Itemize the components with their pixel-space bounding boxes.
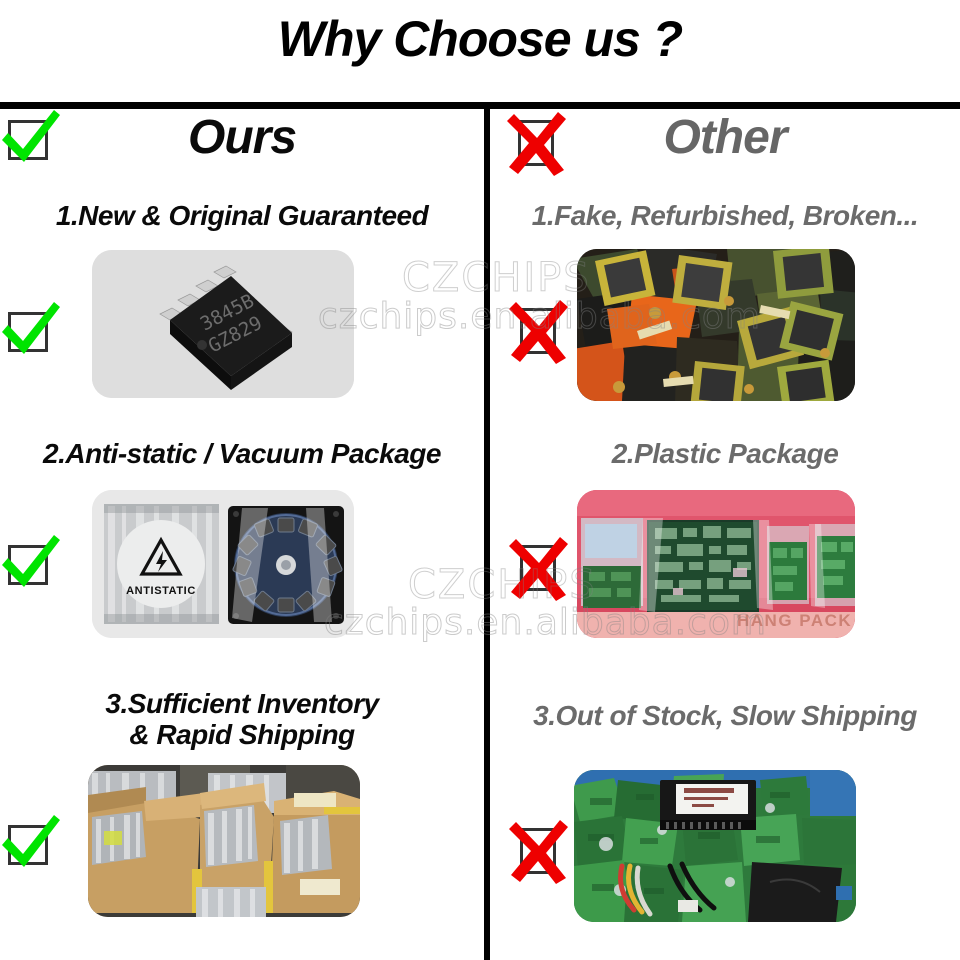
ours-row-1-title: 1.New & Original Guaranteed bbox=[0, 200, 484, 231]
ours-row-3-title: 3.Sufficient Inventory & Rapid Shipping bbox=[0, 688, 484, 751]
page-title: Why Choose us ? bbox=[0, 10, 960, 68]
other-row-2-photo: HANG PACK bbox=[577, 490, 855, 638]
photo-overlay-text: HANG PACK bbox=[737, 611, 852, 630]
other-row-1-cross-icon bbox=[520, 308, 556, 354]
ours-row-2-check-icon bbox=[8, 545, 48, 585]
warehouse-boxes-illustration bbox=[88, 765, 360, 917]
pcbs-in-plastic-bags-illustration: HANG PACK bbox=[577, 490, 855, 638]
ours-row-3-check-icon bbox=[8, 825, 48, 865]
other-row-3-title: 3.Out of Stock, Slow Shipping bbox=[490, 700, 960, 731]
cross-glyph bbox=[506, 818, 572, 884]
other-row-1-photo bbox=[577, 249, 855, 401]
ours-row-3-photo bbox=[88, 765, 360, 917]
cross-glyph bbox=[506, 535, 572, 601]
column-header-ours: Ours bbox=[0, 108, 484, 176]
ic-chip-illustration: 3845B GZ829 bbox=[92, 250, 354, 398]
ours-row-2-photo: ANTISTATIC bbox=[92, 490, 354, 638]
ours-row-3-title-line2: & Rapid Shipping bbox=[0, 719, 484, 750]
check-glyph bbox=[0, 531, 62, 597]
ours-row-3-title-line1: 3.Sufficient Inventory bbox=[0, 688, 484, 719]
cross-glyph bbox=[506, 298, 572, 364]
column-label-ours: Ours bbox=[0, 110, 484, 165]
why-choose-us-infographic: Why Choose us ? Ours Other 1.New & Origi… bbox=[0, 0, 960, 960]
other-row-3-photo bbox=[574, 770, 856, 922]
scrap-chip-pile-illustration bbox=[577, 249, 855, 401]
ours-row-1-photo: 3845B GZ829 bbox=[92, 250, 354, 398]
check-glyph bbox=[0, 298, 62, 364]
column-label-other: Other bbox=[490, 110, 960, 165]
ours-row-2-title: 2.Anti-static / Vacuum Package bbox=[0, 438, 484, 469]
svg-text:ANTISTATIC: ANTISTATIC bbox=[126, 585, 196, 597]
other-row-3-cross-icon bbox=[520, 828, 556, 874]
column-header-other: Other bbox=[490, 108, 960, 176]
antistatic-bag-and-reel-illustration: ANTISTATIC bbox=[92, 490, 354, 638]
scrap-pcb-pile-illustration bbox=[574, 770, 856, 922]
ours-row-1-check-icon bbox=[8, 312, 48, 352]
other-row-2-title: 2.Plastic Package bbox=[490, 438, 960, 469]
other-row-1-title: 1.Fake, Refurbished, Broken... bbox=[490, 200, 960, 231]
watermark-brand-1: CZCHIPS bbox=[402, 255, 591, 301]
check-glyph bbox=[0, 811, 62, 877]
vertical-divider bbox=[484, 106, 490, 960]
other-row-2-cross-icon bbox=[520, 545, 556, 591]
